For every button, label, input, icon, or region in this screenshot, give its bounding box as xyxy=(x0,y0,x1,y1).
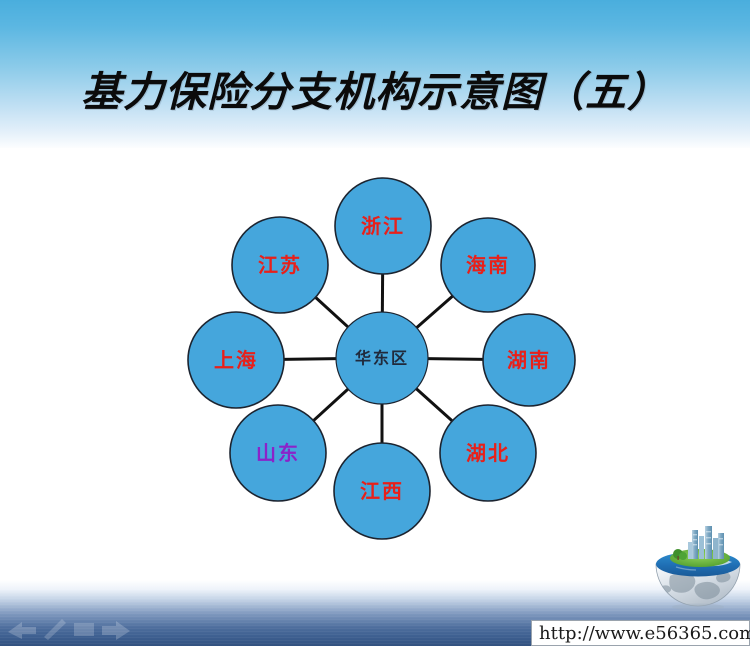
diagram-node-shanghai[interactable]: 上海 xyxy=(188,312,284,408)
diagram-node-shandong[interactable]: 山东 xyxy=(230,405,326,501)
node-label-jiangxi: 江西 xyxy=(360,479,404,503)
diagram-node-hubei[interactable]: 湖北 xyxy=(440,405,536,501)
slide-canvas: 基力保险分支机构示意图（五） 华东区浙江海南湖南湖北江西山东上海江苏 xyxy=(0,0,750,646)
url-watermark: http://www.e56365.com xyxy=(531,620,750,646)
diagram-node-jiangxi[interactable]: 江西 xyxy=(334,443,430,539)
diagram-node-jiangsu[interactable]: 江苏 xyxy=(232,217,328,313)
globe-city-logo xyxy=(652,524,744,610)
diagram-edge-jiangsu xyxy=(315,297,349,328)
node-label-center: 华东区 xyxy=(355,349,409,368)
diagram-nodes: 华东区浙江海南湖南湖北江西山东上海江苏 xyxy=(188,178,575,539)
diagram-edge-hubei xyxy=(416,388,453,422)
page-title: 基力保险分支机构示意图（五） xyxy=(0,58,750,118)
diagram-edge-hunan xyxy=(427,359,484,360)
node-label-hubei: 湖北 xyxy=(466,441,510,465)
diagram-edge-shandong xyxy=(313,388,349,421)
diagram-edge-hainan xyxy=(416,295,454,328)
node-label-shanghai: 上海 xyxy=(214,348,258,372)
diagram-edge-shanghai xyxy=(283,359,337,360)
diagram-node-center[interactable]: 华东区 xyxy=(336,312,428,404)
water-decoration-shapes xyxy=(6,610,136,640)
diagram-node-hainan[interactable]: 海南 xyxy=(441,218,535,312)
node-label-hunan: 湖南 xyxy=(507,348,551,372)
url-watermark-text: http://www.e56365.com xyxy=(532,623,750,644)
diagram-node-zhejiang[interactable]: 浙江 xyxy=(335,178,431,274)
node-label-hainan: 海南 xyxy=(466,253,510,277)
node-label-zhejiang: 浙江 xyxy=(361,214,405,238)
diagram-node-hunan[interactable]: 湖南 xyxy=(483,314,575,406)
org-branch-diagram: 华东区浙江海南湖南湖北江西山东上海江苏 xyxy=(150,160,600,550)
node-label-shandong: 山东 xyxy=(256,441,300,465)
node-label-jiangsu: 江苏 xyxy=(258,253,302,277)
